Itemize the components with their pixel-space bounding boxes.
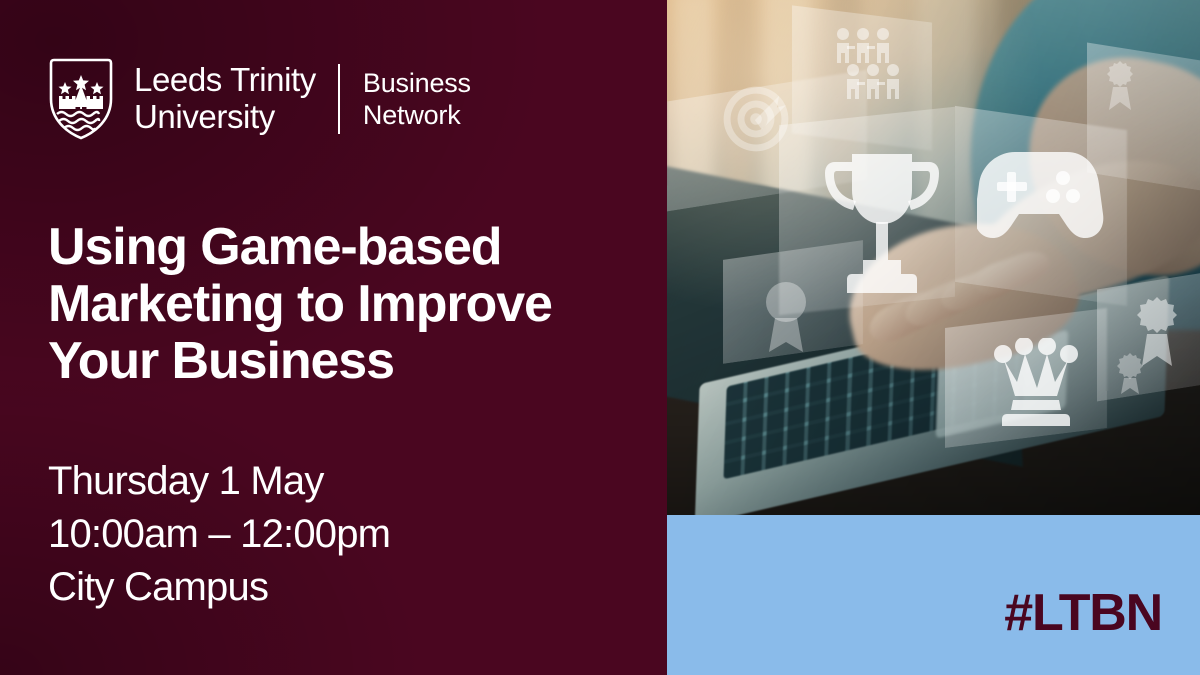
sub-brand-line1: Business (363, 68, 471, 98)
sub-brand-wordmark: Business Network (363, 67, 471, 132)
headline-line-3: Your Business (48, 333, 628, 390)
hero-photograph (667, 0, 1200, 515)
university-name-line1: Leeds Trinity (134, 61, 316, 98)
target-icon (719, 82, 793, 156)
hashtag-panel: #LTBN (667, 515, 1200, 675)
university-name-line2: University (134, 98, 275, 135)
event-time: 10:00am – 12:00pm (48, 508, 390, 561)
headline-line-2: Marketing to Improve (48, 276, 628, 333)
chess-queen-crown-icon (991, 338, 1083, 430)
event-date: Thursday 1 May (48, 455, 390, 508)
event-headline: Using Game-based Marketing to Improve Yo… (48, 219, 628, 391)
leeds-trinity-crest-icon (48, 57, 114, 141)
event-details: Thursday 1 May 10:00am – 12:00pm City Ca… (48, 455, 390, 615)
medal-rosette-icon (1105, 60, 1135, 112)
university-wordmark: Leeds Trinity University (134, 62, 316, 135)
medal-rosette-icon (1115, 352, 1145, 396)
headline-line-1: Using Game-based (48, 219, 628, 276)
event-poster: Leeds Trinity University Business Networ… (0, 0, 1200, 675)
event-location: City Campus (48, 561, 390, 614)
brand-logo-lockup[interactable]: Leeds Trinity University Business Networ… (48, 57, 471, 141)
award-ribbon-icon (763, 280, 809, 354)
game-controller-icon (977, 140, 1105, 240)
logo-divider (338, 64, 340, 134)
sub-brand-line2: Network (363, 100, 461, 130)
event-hashtag: #LTBN (1004, 587, 1162, 639)
trophy-icon (819, 148, 945, 302)
team-group-icon (829, 26, 909, 102)
